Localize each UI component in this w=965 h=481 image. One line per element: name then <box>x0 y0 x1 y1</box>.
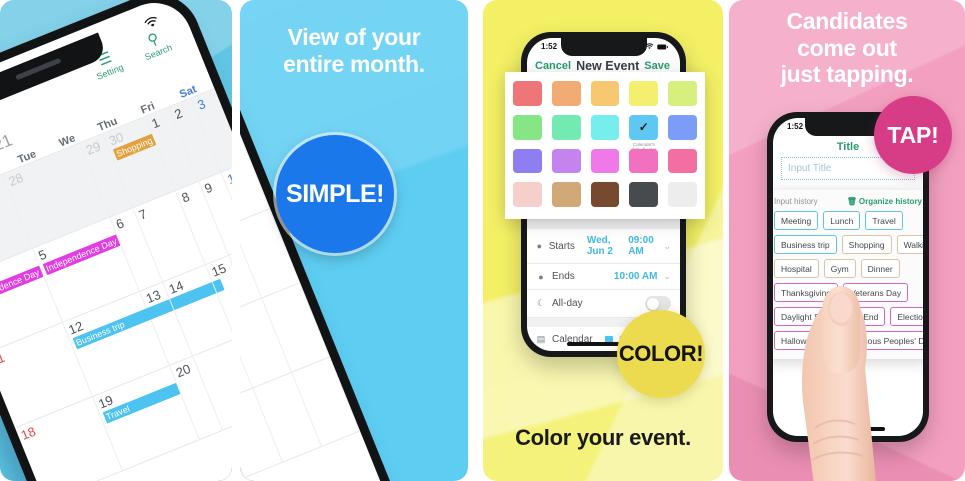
day-number: 7 <box>137 206 149 223</box>
color-swatch[interactable] <box>629 149 658 174</box>
allday-label: All-day <box>552 298 583 309</box>
input-history-popup: Input history 🗑 Organize history Meeting… <box>773 190 923 359</box>
color-badge-label: COLOR! <box>619 341 703 367</box>
status-time: 1:52 <box>787 122 803 131</box>
history-chip[interactable]: Dinner <box>861 259 900 278</box>
day-number: 18 <box>19 424 38 443</box>
clock-icon: ● <box>536 241 543 251</box>
clock-icon: ● <box>536 272 546 282</box>
simple-badge-label: SIMPLE! <box>286 180 384 209</box>
color-swatch[interactable] <box>552 182 581 207</box>
panel-month-view: 2:07 ☰ Setting <box>0 0 232 481</box>
starts-row[interactable]: ● Starts Wed, Jun 2 09:00 AM ⌄ <box>527 229 680 264</box>
day-number: 28 <box>6 170 25 189</box>
color-swatch[interactable] <box>668 182 697 207</box>
history-chip[interactable]: Daylight Saving Time End <box>774 307 885 326</box>
day-number: 10 <box>225 168 232 187</box>
allday-toggle[interactable] <box>645 296 671 311</box>
panel-headline: Candidates come out just tapping. <box>729 8 965 88</box>
history-chip[interactable]: Gym <box>824 259 856 278</box>
day-number: 6 <box>114 215 126 232</box>
notch <box>561 38 647 56</box>
battery-icon <box>657 44 668 50</box>
color-swatch[interactable] <box>668 81 697 106</box>
moon-icon: ☾ <box>536 298 546 309</box>
chip-row: Thanksgiving Veterans Day <box>774 283 922 302</box>
chip-row: Business trip Shopping Walking <box>774 235 922 254</box>
day-number: 20 <box>174 361 193 380</box>
color-picker-popup[interactable]: ✓ Calendar's default color <box>505 72 705 219</box>
day-number: 14 <box>167 278 186 297</box>
history-chip[interactable]: Meeting <box>774 211 818 230</box>
save-button[interactable]: Save <box>644 60 670 72</box>
day-number: 8 <box>179 189 191 206</box>
day-number: 13 <box>144 287 163 306</box>
history-chip[interactable]: Lunch <box>823 211 860 230</box>
input-history-label: Input history <box>774 197 818 206</box>
history-chip[interactable]: Veterans Day <box>843 283 908 302</box>
screen-title: New Event <box>576 59 639 73</box>
organize-history-label: Organize history <box>859 197 922 206</box>
starts-time-value[interactable]: 09:00 AM <box>628 235 657 257</box>
chip-row: Hospital Gym Dinner <box>774 259 922 278</box>
app-store-screenshot-gallery: 2:07 ☰ Setting <box>0 0 965 481</box>
color-swatch[interactable] <box>668 149 697 174</box>
panel-caption: Color your event. <box>483 425 723 451</box>
chevron-down-icon: ⌄ <box>663 241 671 252</box>
history-chip[interactable]: Travel <box>865 211 902 230</box>
color-swatch[interactable] <box>552 81 581 106</box>
color-swatch[interactable] <box>591 81 620 106</box>
event-chip[interactable]: Independence Day <box>0 266 43 307</box>
color-swatch[interactable] <box>513 182 542 207</box>
starts-label: Starts <box>549 241 575 252</box>
tap-badge: TAP! <box>874 96 952 174</box>
panel-tap: Candidates come out just tapping. 1:52 T… <box>729 0 965 481</box>
history-chip[interactable]: Hospital <box>774 259 819 278</box>
day-number: 11 <box>0 350 7 369</box>
calendar-grid: 9 10 15 16 <box>240 60 360 481</box>
history-chip[interactable]: Shopping <box>842 235 892 254</box>
panel-color: 1:52 Cancel <box>483 0 723 481</box>
color-swatch[interactable] <box>591 149 620 174</box>
starts-date-value[interactable]: Wed, Jun 2 <box>587 235 622 257</box>
color-swatch[interactable] <box>591 182 620 207</box>
day-number: 1 <box>149 115 161 132</box>
history-chip[interactable]: Thanksgiving <box>774 283 838 302</box>
phone-screen: 2:07 ☰ Setting <box>0 0 232 481</box>
color-swatch[interactable] <box>513 81 542 106</box>
chip-row: Meeting Lunch Travel <box>774 211 922 230</box>
color-badge: COLOR! <box>617 310 705 398</box>
day-number: 3 <box>195 96 207 113</box>
color-swatch[interactable] <box>552 115 581 140</box>
color-swatch[interactable] <box>629 81 658 106</box>
color-swatch[interactable] <box>513 149 542 174</box>
panel-headline: View of your entire month. <box>240 24 468 77</box>
panel-simple: Sat 9 <box>240 0 468 481</box>
color-swatch[interactable] <box>591 115 620 140</box>
simple-badge: SIMPLE! <box>276 135 394 253</box>
status-icons <box>645 43 668 50</box>
history-chip[interactable]: Business trip <box>774 235 837 254</box>
color-swatch[interactable] <box>668 115 697 140</box>
home-indicator[interactable] <box>811 427 885 431</box>
day-number: 29 <box>84 139 103 158</box>
cancel-button[interactable]: Cancel <box>535 60 571 72</box>
calendar-icon: ▤ <box>536 334 546 345</box>
day-number: 9 <box>202 180 214 197</box>
input-history-header: Input history 🗑 Organize history <box>774 197 922 206</box>
history-chip-list: Meeting Lunch Travel Business trip Shopp… <box>774 211 922 350</box>
history-chip[interactable]: Walking <box>897 235 923 254</box>
chip-row: Halloween Indigenous Peoples' Day <box>774 331 922 350</box>
phone-frame: 2:07 ☰ Setting <box>0 0 232 481</box>
ends-time-value[interactable]: 10:00 AM <box>614 271 658 282</box>
ends-label: Ends <box>552 271 575 282</box>
history-chip[interactable]: Halloween <box>774 331 828 350</box>
color-swatch-selected[interactable]: ✓ Calendar's default color <box>629 115 658 140</box>
color-swatch[interactable] <box>552 149 581 174</box>
ends-row[interactable]: ● Ends 10:00 AM ⌄ <box>527 264 680 290</box>
color-swatch[interactable] <box>513 115 542 140</box>
tilted-phone-left: 2:07 ☰ Setting <box>0 0 232 481</box>
check-icon: ✓ <box>629 115 658 140</box>
day-number: 15 <box>209 260 228 279</box>
day-number: 2 <box>172 105 184 122</box>
chevron-down-icon: ⌄ <box>663 271 671 282</box>
color-swatch[interactable] <box>629 182 658 207</box>
trash-icon: 🗑 <box>847 197 857 206</box>
event-chip[interactable]: Independence Day <box>42 234 120 275</box>
status-time: 1:52 <box>541 42 557 51</box>
color-grid: ✓ Calendar's default color <box>513 81 697 207</box>
day-number: 5 <box>36 247 48 264</box>
chip-row: Daylight Saving Time End Election Day <box>774 307 922 326</box>
organize-history-button[interactable]: 🗑 Organize history <box>847 197 922 206</box>
history-chip[interactable]: Indigenous Peoples' Day <box>833 331 923 350</box>
section-gap <box>527 220 680 229</box>
tap-badge-label: TAP! <box>887 122 938 149</box>
history-chip[interactable]: Election Day <box>890 307 923 326</box>
